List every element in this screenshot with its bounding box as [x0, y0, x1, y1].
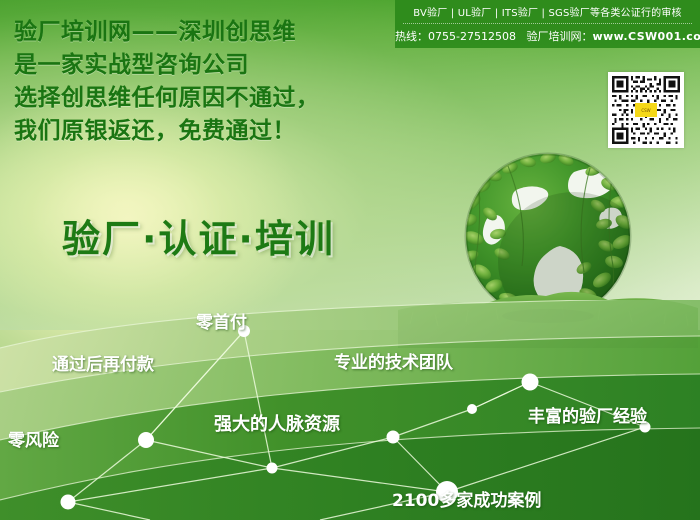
network-label-strong-network: 强大的人脉资源 [214, 410, 340, 436]
qr-code[interactable]: CSW [608, 72, 684, 148]
hotline-and-site-line: 热线：0755-27512508 验厂培训网：www.CSW001.com [395, 28, 700, 44]
qr-logo-text: CSW [641, 108, 650, 113]
headline-line-3: 选择创思维任何原因不通过， [14, 82, 394, 115]
header-info-bar: BV验厂 | UL验厂 | ITS验厂 | SGS验厂等各类公证行的审核 热线：… [395, 0, 700, 48]
header-divider [403, 23, 692, 24]
network-label-rich-experience: 丰富的验厂经验 [528, 402, 647, 427]
qr-center-logo: CSW [635, 103, 657, 117]
hotline-label: 热线： [395, 30, 428, 43]
headline-copy-block: 验厂培训网——深圳创思维 是一家实战型咨询公司 选择创思维任何原因不通过， 我们… [14, 16, 394, 148]
network-label-success-cases: 2100多家成功案例 [392, 486, 541, 511]
headline-line-4: 我们原银返还，免费通过！ [14, 115, 394, 148]
hotline-number: 0755-27512508 [428, 30, 516, 43]
site-url[interactable]: www.CSW001.com [592, 30, 700, 43]
audit-types-line: BV验厂 | UL验厂 | ITS验厂 | SGS验厂等各类公证行的审核 [395, 4, 700, 19]
network-label-pay-after-pass: 通过后再付款 [52, 350, 154, 375]
main-slogan: 验厂·认证·培训 [62, 208, 335, 263]
promo-banner: BV验厂 | UL验厂 | ITS验厂 | SGS验厂等各类公证行的审核 热线：… [0, 0, 700, 520]
network-label-zero-down-payment: 零首付 [196, 308, 247, 333]
network-label-pro-team: 专业的技术团队 [334, 348, 453, 373]
site-label: 验厂培训网： [526, 30, 592, 43]
headline-line-1: 验厂培训网——深圳创思维 [14, 16, 394, 49]
network-label-zero-risk: 零风险 [8, 426, 59, 451]
headline-line-2: 是一家实战型咨询公司 [14, 49, 394, 82]
